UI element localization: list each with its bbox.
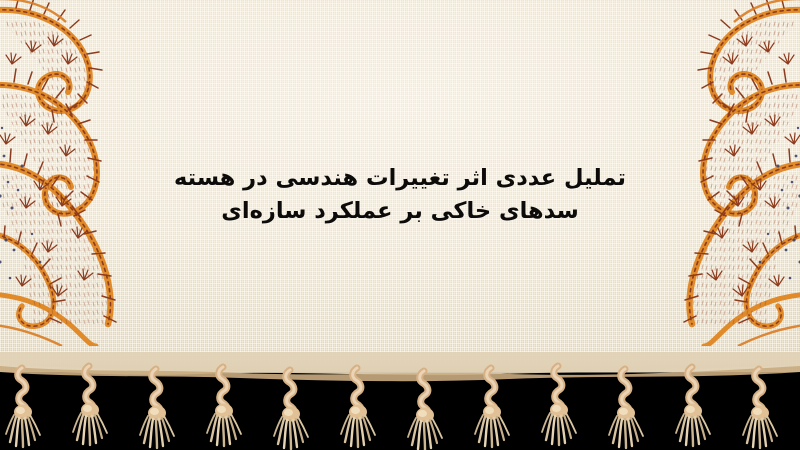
title-line-2: سدهای خاکی بر عملکرد سازه‌ای [170,195,630,228]
tassel-fringe [0,352,800,450]
title-slide: تملیل عددی اثر تغییرات هندسی در هسته سده… [0,0,800,450]
title-line-1: تملیل عددی اثر تغییرات هندسی در هسته [170,162,630,195]
slide-title: تملیل عددی اثر تغییرات هندسی در هسته سده… [0,162,800,228]
